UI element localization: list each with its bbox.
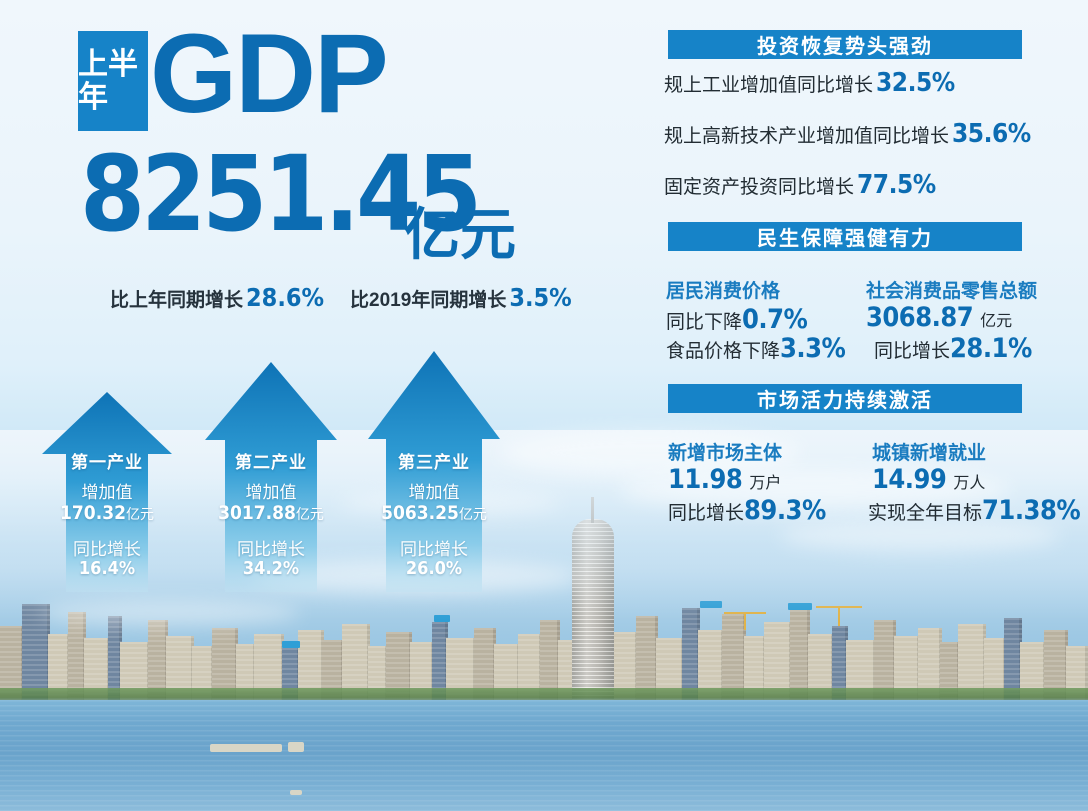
employment-row-2: 实现全年目标71.38% [868,495,1080,526]
new-entities-value: 11.98 [668,464,742,495]
retail-row-2: 同比增长28.1% [874,333,1032,364]
industry-growth-value: 34.2% [205,558,337,579]
industry-value-number: 5063.25 [381,502,459,524]
comparison-label-yoy: 比上年同期增长 [110,285,243,312]
industry-title: 第一产业 [42,448,172,473]
retail-total-unit: 亿元 [980,313,1012,330]
small-boat [288,742,304,752]
retail-total-value: 3068.87 [866,302,973,333]
employment-value: 14.99 [872,464,946,495]
industry-value-label: 增加值 [368,478,500,503]
investment-label-2: 规上高新技术产业增加值同比增长 [664,126,949,147]
industry-growth-label: 同比增长 [205,535,337,560]
badge-label: 上半年 [78,48,148,114]
investment-value-1: 32.5% [876,68,955,98]
comparison-value-yoy: 28.6% [246,283,324,312]
half-year-badge: 上半年 [78,31,148,131]
cpi-row-1: 同比下降0.7% [666,304,807,335]
industry-growth-label: 同比增长 [42,535,172,560]
new-entities-row2-prefix: 同比增长 [668,503,744,524]
industry-value-label: 增加值 [205,478,337,503]
infographic-poster: 上半年 GDP 8251.45 亿元 比上年同期增长 28.6% 比2019年同… [0,0,1088,811]
industry-value-unit: 亿元 [296,506,324,522]
industry-value: 3017.88亿元 [205,502,337,524]
industry-title: 第三产业 [368,448,500,473]
industry-value: 170.32亿元 [42,502,172,524]
investment-line-2: 规上高新技术产业增加值同比增长35.6% [664,119,1031,149]
gdp-comparisons: 比上年同期增长 28.6% 比2019年同期增长 3.5% [110,283,576,312]
retail-row2-value: 28.1% [950,333,1032,364]
new-entities-row2-value: 89.3% [744,495,826,526]
investment-label-1: 规上工业增加值同比增长 [664,75,873,96]
retail-heading: 社会消费品零售总额 [866,276,1037,303]
industry-arrow-primary: 第一产业 增加值 170.32亿元 同比增长 16.4% [42,392,172,592]
tiny-boat [290,790,302,795]
industry-value-label: 增加值 [42,478,172,503]
comparison-label-2019: 比2019年同期增长 [350,285,506,312]
cpi-row2-prefix: 食品价格下降 [666,341,780,362]
gdp-metric-title: GDP [150,18,387,130]
panel-title-investment: 投资恢复势头强劲 [668,30,1022,59]
cpi-row-2: 食品价格下降3.3% [666,333,845,364]
industry-arrow-secondary: 第二产业 增加值 3017.88亿元 同比增长 34.2% [205,362,337,592]
investment-value-3: 77.5% [857,170,936,200]
industry-growth-label: 同比增长 [368,535,500,560]
barge-boat [210,744,282,752]
comparison-value-2019: 3.5% [509,283,571,312]
industry-title: 第二产业 [205,448,337,473]
industry-value-unit: 亿元 [126,506,154,522]
employment-row2-value: 71.38% [982,495,1080,526]
retail-row-1: 3068.87亿元 [866,302,1012,333]
employment-unit: 万人 [953,475,985,492]
investment-value-2: 35.6% [952,119,1031,149]
new-entities-heading: 新增市场主体 [668,438,782,465]
industry-arrow-tertiary: 第三产业 增加值 5063.25亿元 同比增长 26.0% [368,351,500,592]
new-entities-unit: 万户 [749,475,781,492]
cloud [40,600,300,626]
industry-growth-value: 26.0% [368,558,500,579]
industry-value-unit: 亿元 [459,506,487,522]
employment-heading: 城镇新增就业 [872,438,986,465]
employment-row2-prefix: 实现全年目标 [868,503,982,524]
retail-row2-prefix: 同比增长 [874,341,950,362]
panel-title-livelihood: 民生保障强健有力 [668,222,1022,251]
investment-line-3: 固定资产投资同比增长77.5% [664,170,936,200]
panel-title-market: 市场活力持续激活 [668,384,1022,413]
panel-title-text: 投资恢复势头强劲 [757,30,933,59]
employment-row-1: 14.99万人 [872,464,985,495]
panel-title-text: 民生保障强健有力 [757,222,933,251]
new-entities-row-2: 同比增长89.3% [668,495,826,526]
river [0,700,1088,811]
industry-value-number: 3017.88 [218,502,296,524]
industry-value: 5063.25亿元 [368,502,500,524]
industry-value-number: 170.32 [60,502,126,524]
panel-title-text: 市场活力持续激活 [757,384,933,413]
investment-label-3: 固定资产投资同比增长 [664,177,854,198]
cpi-row1-prefix: 同比下降 [666,312,742,333]
new-entities-row-1: 11.98万户 [668,464,781,495]
investment-line-1: 规上工业增加值同比增长32.5% [664,68,955,98]
gdp-value-unit: 亿元 [404,190,516,271]
industry-growth-value: 16.4% [42,558,172,579]
cpi-row1-value: 0.7% [742,304,807,335]
cpi-heading: 居民消费价格 [666,276,780,303]
cpi-row2-value: 3.3% [780,333,845,364]
